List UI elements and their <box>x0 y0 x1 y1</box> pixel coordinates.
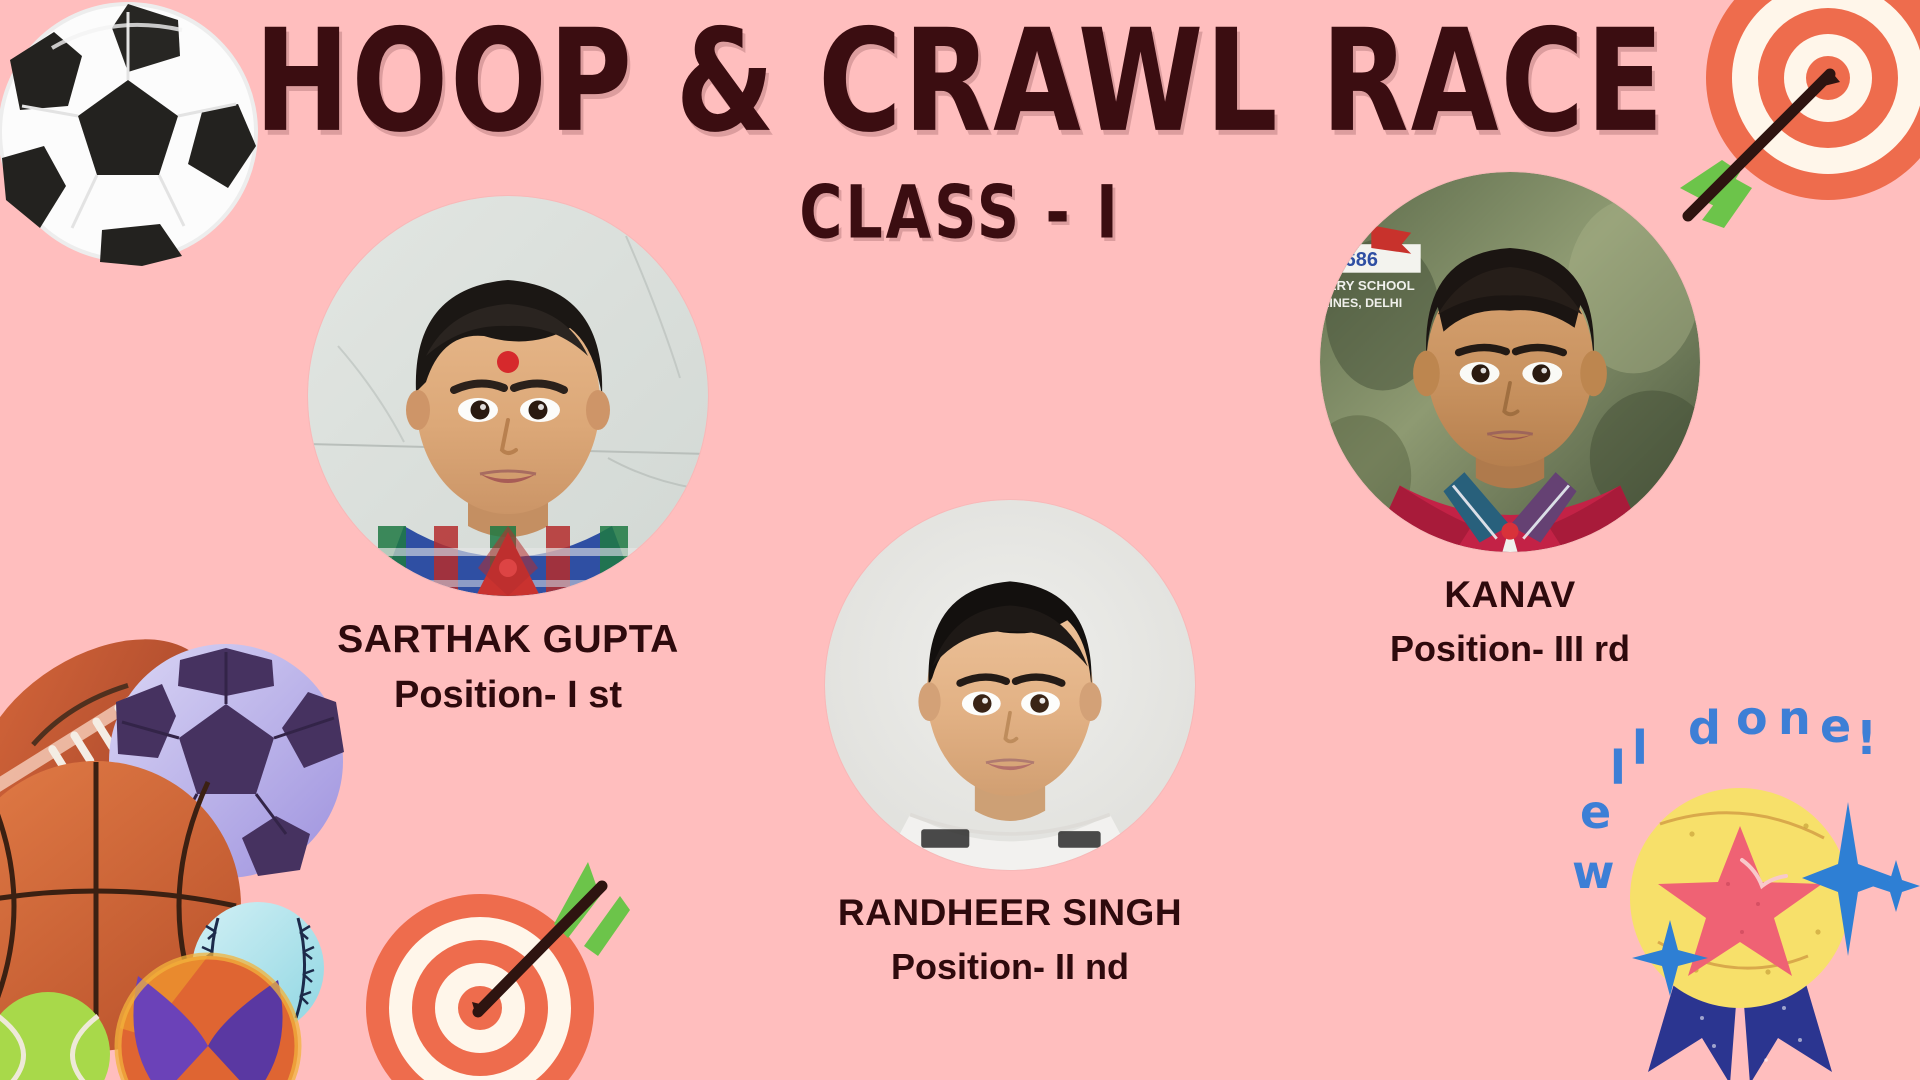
winner-name: SARTHAK GUPTA <box>288 618 728 662</box>
winner-position: Position- II nd <box>790 946 1230 988</box>
poster-canvas: HOOP & CRAWL RACE CLASS - I <box>0 0 1920 1080</box>
soccer-ball-white-icon <box>0 0 264 266</box>
winner-card-first-place[interactable]: SARTHAK GUPTA Position- I st <box>288 196 728 717</box>
winner-name: KANAV <box>1290 574 1730 616</box>
winner-card-second-place[interactable]: RANDHEER SINGH Position- II nd <box>790 500 1230 988</box>
winner-name: RANDHEER SINGH <box>790 892 1230 934</box>
well-done-medal-badge-icon: w e l l d o n e ! <box>1552 688 1920 1080</box>
svg-text:686: 686 <box>1345 249 1378 271</box>
winner-card-third-place[interactable]: 686 ERY SCHOOL LINES, DELHI <box>1290 172 1730 670</box>
svg-text:LINES, DELHI: LINES, DELHI <box>1322 296 1402 310</box>
svg-text:ERY SCHOOL: ERY SCHOOL <box>1328 278 1415 293</box>
winner-position: Position- I st <box>288 674 728 717</box>
winner-position: Position- III rd <box>1290 628 1730 670</box>
avatar: 686 ERY SCHOOL LINES, DELHI <box>1320 172 1700 552</box>
avatar <box>308 196 708 596</box>
avatar <box>825 500 1195 870</box>
dartboard-arrow-bottom-icon <box>362 848 642 1080</box>
page-title: HOOP & CRAWL RACE <box>19 14 1901 150</box>
